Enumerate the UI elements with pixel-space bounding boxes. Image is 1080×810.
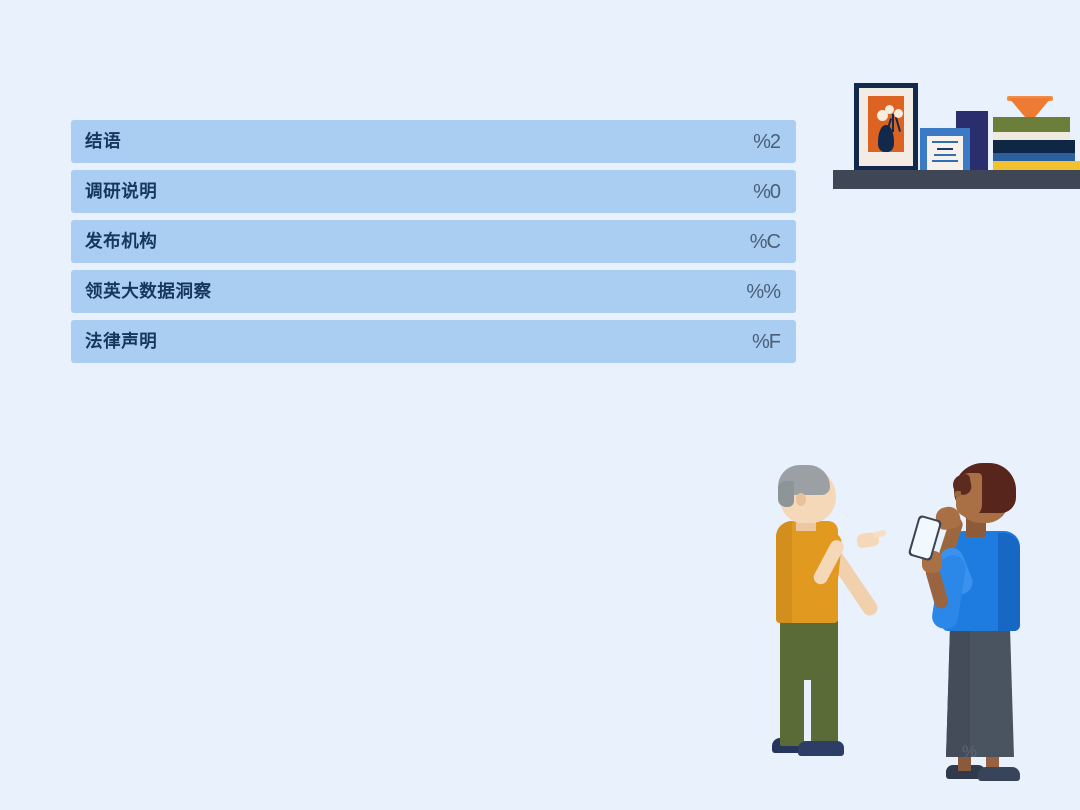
man-pointing-finger — [873, 530, 887, 539]
people-illustration: % — [740, 455, 1080, 810]
toc-row[interactable]: 领英大数据洞察 %% — [71, 270, 796, 313]
woman-shoe — [978, 767, 1020, 781]
slide-canvas: 结语 %2 调研说明 %0 发布机构 %C 领英大数据洞察 %% 法律声明 %F — [0, 0, 1080, 810]
toc-row[interactable]: 法律声明 %F — [71, 320, 796, 363]
toc-item-number: %C — [750, 232, 780, 252]
man-shirt-shadow — [776, 521, 792, 623]
picture-mat — [859, 88, 913, 166]
toc-item-number: %0 — [753, 182, 780, 202]
toc-item-label: 结语 — [85, 133, 121, 151]
blue-book-icon — [993, 153, 1075, 161]
toc-item-label: 调研说明 — [85, 183, 157, 201]
flower-bloom — [885, 105, 894, 114]
bookshelf-illustration — [833, 58, 1080, 188]
toc-item-label: 领英大数据洞察 — [85, 283, 212, 301]
man-hair-side — [778, 481, 794, 507]
page-text-line — [937, 148, 953, 150]
orange-bowl-icon — [1009, 98, 1051, 117]
cream-pages — [993, 132, 1070, 140]
woman-top-shadow — [998, 533, 1020, 631]
toc-row[interactable]: 结语 %2 — [71, 120, 796, 163]
navy-book-icon — [993, 140, 1075, 153]
toc-row[interactable]: 调研说明 %0 — [71, 170, 796, 213]
woman-nose — [954, 491, 961, 497]
toc-item-label: 法律声明 — [85, 333, 157, 351]
vase-icon — [878, 125, 894, 152]
page-text-line — [932, 160, 958, 162]
picture-canvas — [868, 96, 904, 152]
man-ear — [796, 493, 806, 506]
percent-watermark: % — [962, 743, 976, 760]
olive-book-icon — [993, 117, 1070, 132]
flower-stem — [892, 114, 894, 132]
table-of-contents: 结语 %2 调研说明 %0 发布机构 %C 领英大数据洞察 %% 法律声明 %F — [71, 120, 796, 370]
toc-row[interactable]: 发布机构 %C — [71, 220, 796, 263]
shelf-board — [833, 170, 1080, 189]
man-leg-gap — [804, 680, 811, 746]
toc-item-label: 发布机构 — [85, 233, 157, 251]
woman-skirt-shadow — [946, 625, 970, 757]
toc-item-number: %% — [746, 282, 780, 302]
man-shoe — [798, 741, 844, 756]
page-text-line — [932, 141, 958, 143]
toc-item-number: %F — [752, 332, 780, 352]
page-text-line — [934, 154, 956, 156]
toc-item-number: %2 — [753, 132, 780, 152]
framed-picture-icon — [854, 83, 918, 171]
flower-bloom — [894, 109, 903, 118]
flower-stem — [895, 117, 901, 132]
